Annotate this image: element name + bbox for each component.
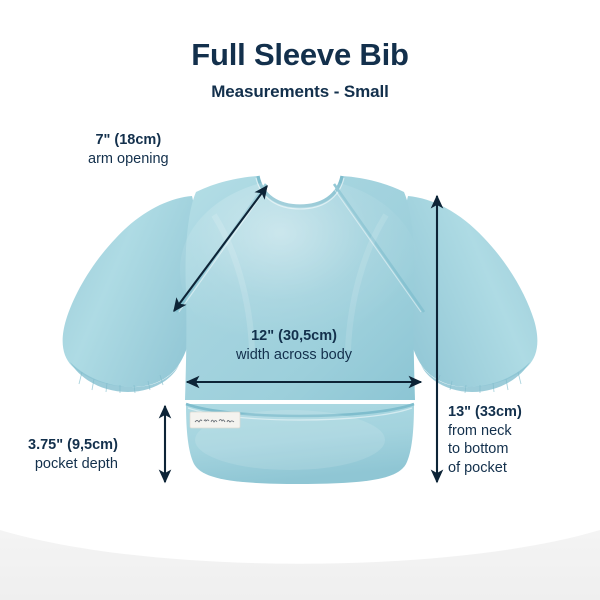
pocket-depth-description: pocket depth: [28, 455, 118, 474]
brand-tag: [190, 412, 240, 428]
right-sleeve: [401, 196, 537, 387]
neck-to-pocket-description-line1: from neck: [448, 422, 522, 441]
arm-opening-description: arm opening: [88, 150, 169, 169]
left-sleeve: [63, 196, 199, 387]
neck-to-pocket-description-line2: to bottom: [448, 440, 522, 459]
callout-neck-to-pocket: 13" (33cm) from neck to bottom of pocket: [448, 403, 522, 477]
callout-arm-opening: 7" (18cm) arm opening: [88, 131, 169, 168]
arm-opening-value: 7" (18cm): [88, 131, 169, 150]
page-title: Full Sleeve Bib: [0, 38, 600, 72]
callout-pocket-depth: 3.75" (9,5cm) pocket depth: [28, 436, 118, 473]
callout-width-across-body: 12" (30,5cm) width across body: [236, 327, 352, 364]
arm-opening-leader: [150, 168, 186, 192]
neck-to-pocket-value: 13" (33cm): [448, 403, 522, 422]
background-band: [0, 530, 600, 600]
pocket-depth-value: 3.75" (9,5cm): [28, 436, 118, 455]
page-subtitle: Measurements - Small: [0, 82, 600, 102]
neck-to-pocket-description-line3: of pocket: [448, 459, 522, 478]
width-value: 12" (30,5cm): [236, 327, 352, 346]
width-description: width across body: [236, 346, 352, 365]
measurement-diagram-page: Full Sleeve Bib Measurements - Small 7" …: [0, 0, 600, 600]
header-block: Full Sleeve Bib Measurements - Small: [0, 38, 600, 102]
